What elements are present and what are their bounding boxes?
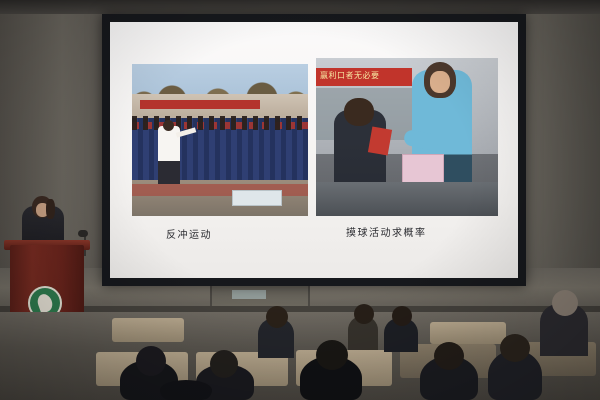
audience-member — [434, 342, 464, 370]
classroom-desk — [316, 182, 498, 216]
classroom-banner-text: 赢利口者无必要 — [320, 70, 380, 81]
microphone-icon — [78, 230, 88, 237]
slide-caption-right: 摸球活动求概率 — [346, 224, 427, 239]
red-banner — [140, 100, 260, 109]
demo-table — [232, 190, 282, 206]
right-wall-panel — [522, 0, 600, 300]
audience-member — [210, 350, 238, 378]
audience-member — [266, 306, 288, 328]
pink-ball-box — [402, 154, 444, 184]
audience-member — [500, 334, 530, 362]
slide-caption-left: 反冲运动 — [166, 226, 212, 241]
slide-photo-right: 赢利口者无必要 — [316, 58, 498, 216]
slide-photo-left — [132, 64, 308, 216]
projection-screen: 赢利口者无必要 反冲运动 摸球活动求概率 — [110, 22, 518, 278]
audience-member — [316, 340, 348, 370]
seat-row — [112, 318, 184, 342]
audience-member — [160, 380, 212, 400]
student-head — [344, 98, 374, 126]
projection-screen-frame: 赢利口者无必要 反冲运动 摸球活动求概率 — [102, 14, 526, 286]
audience-member — [392, 306, 412, 326]
photo-scene: 赢利口者无必要 反冲运动 摸球活动求概率 — [0, 0, 600, 400]
teacher-head — [163, 120, 174, 131]
seat-row — [430, 322, 506, 344]
girl-face — [430, 71, 450, 93]
audience-member — [136, 346, 166, 376]
audience-member — [354, 304, 374, 324]
school-logo-leaf — [35, 292, 54, 314]
exit-sign — [232, 290, 266, 299]
presentation-slide: 赢利口者无必要 反冲运动 摸球活动求概率 — [110, 22, 518, 278]
audience-member — [552, 290, 578, 316]
speaker-hair — [46, 199, 55, 219]
ceiling-strip — [0, 0, 600, 14]
